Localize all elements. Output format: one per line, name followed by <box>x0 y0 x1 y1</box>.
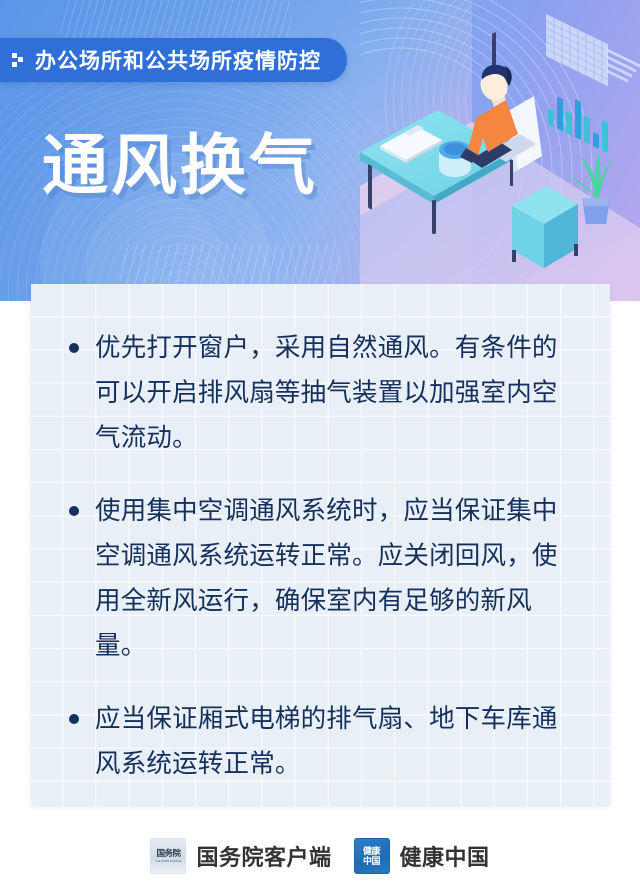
bullet-dot-icon <box>69 343 79 353</box>
brand-state-council[interactable]: 国务院 THE STATE COUNCIL 国务院客户端 <box>150 838 331 874</box>
list-item: 使用集中空调通风系统时，应当保证集中空调通风系统运转正常。应关闭回风，使用全新风… <box>69 489 586 669</box>
page-title: 通风换气 <box>42 132 318 198</box>
state-council-logo-top: 国务院 <box>156 849 180 858</box>
list-item: 应当保证厢式电梯的排气扇、地下车库通风系统运转正常。 <box>69 697 586 787</box>
brand-healthy-china[interactable]: 健康 中国 健康中国 <box>354 838 490 874</box>
bullet-dot-icon <box>69 714 79 724</box>
state-council-brand-name: 国务院客户端 <box>196 840 331 872</box>
footer-brands: 国务院 THE STATE COUNCIL 国务院客户端 健康 中国 健康中国 <box>0 830 640 882</box>
category-tag-label: 办公场所和公共场所疫情防控 <box>35 45 321 75</box>
content-card: 优先打开窗户，采用自然通风。有条件的可以开启排风扇等抽气装置以加强室内空气流动。… <box>31 284 610 806</box>
bullet-list: 优先打开窗户，采用自然通风。有条件的可以开启排风扇等抽气装置以加强室内空气流动。… <box>69 326 586 787</box>
list-item-text: 优先打开窗户，采用自然通风。有条件的可以开启排风扇等抽气装置以加强室内空气流动。 <box>95 326 565 461</box>
list-item: 优先打开窗户，采用自然通风。有条件的可以开启排风扇等抽气装置以加强室内空气流动。 <box>69 326 586 461</box>
list-item-text: 应当保证厢式电梯的排气扇、地下车库通风系统运转正常。 <box>95 697 565 787</box>
healthy-china-logo-line1: 健康 <box>363 846 380 856</box>
state-council-logo-bottom: THE STATE COUNCIL <box>155 860 182 863</box>
healthy-china-brand-name: 健康中国 <box>400 840 490 872</box>
hero-banner: 办公场所和公共场所疫情防控 通风换气 <box>0 0 640 301</box>
healthy-china-logo-line2: 中国 <box>363 856 380 866</box>
state-council-logo-icon: 国务院 THE STATE COUNCIL <box>150 838 186 874</box>
bullet-dot-icon <box>69 506 79 516</box>
list-item-text: 使用集中空调通风系统时，应当保证集中空调通风系统运转正常。应关闭回风，使用全新风… <box>95 489 565 669</box>
pixel-arrow-icon <box>12 53 26 67</box>
healthy-china-logo-icon: 健康 中国 <box>354 838 390 874</box>
category-tag: 办公场所和公共场所疫情防控 <box>0 38 347 82</box>
office-workspace-illustration <box>360 0 640 301</box>
poster-root: 办公场所和公共场所疫情防控 通风换气 优先打开窗户，采用自然通风。有条件的可以开… <box>0 0 640 894</box>
